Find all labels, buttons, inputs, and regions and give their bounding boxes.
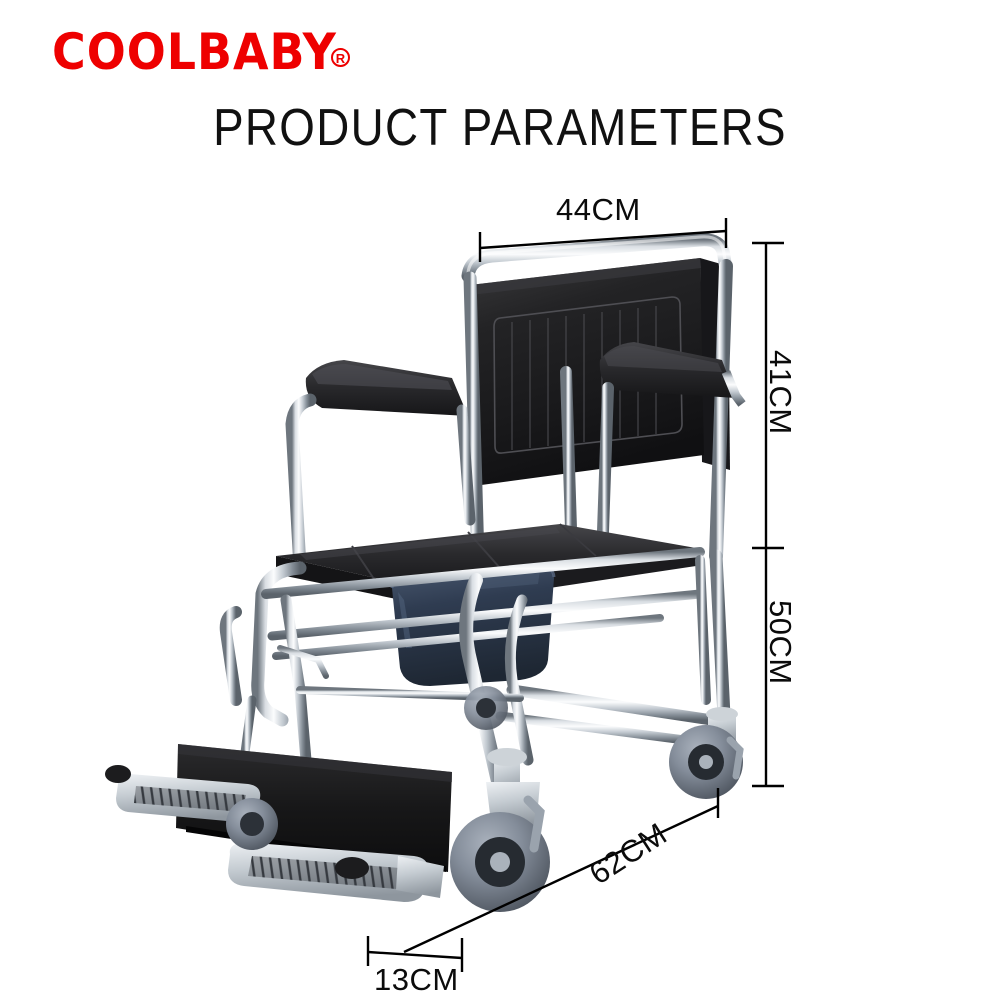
base-frame <box>226 552 724 790</box>
dimension-41cm <box>752 243 784 548</box>
caster-front-left <box>226 798 278 850</box>
dimension-13cm <box>368 936 462 972</box>
caster-rear-left <box>464 686 508 730</box>
armrest-left <box>292 360 470 568</box>
product-parameters-page: COOLBABY R PRODUCT PARAMETERS <box>0 0 1000 1000</box>
product-image <box>0 0 1000 1000</box>
caster-front-right <box>450 748 550 912</box>
dimension-50cm <box>752 548 784 786</box>
